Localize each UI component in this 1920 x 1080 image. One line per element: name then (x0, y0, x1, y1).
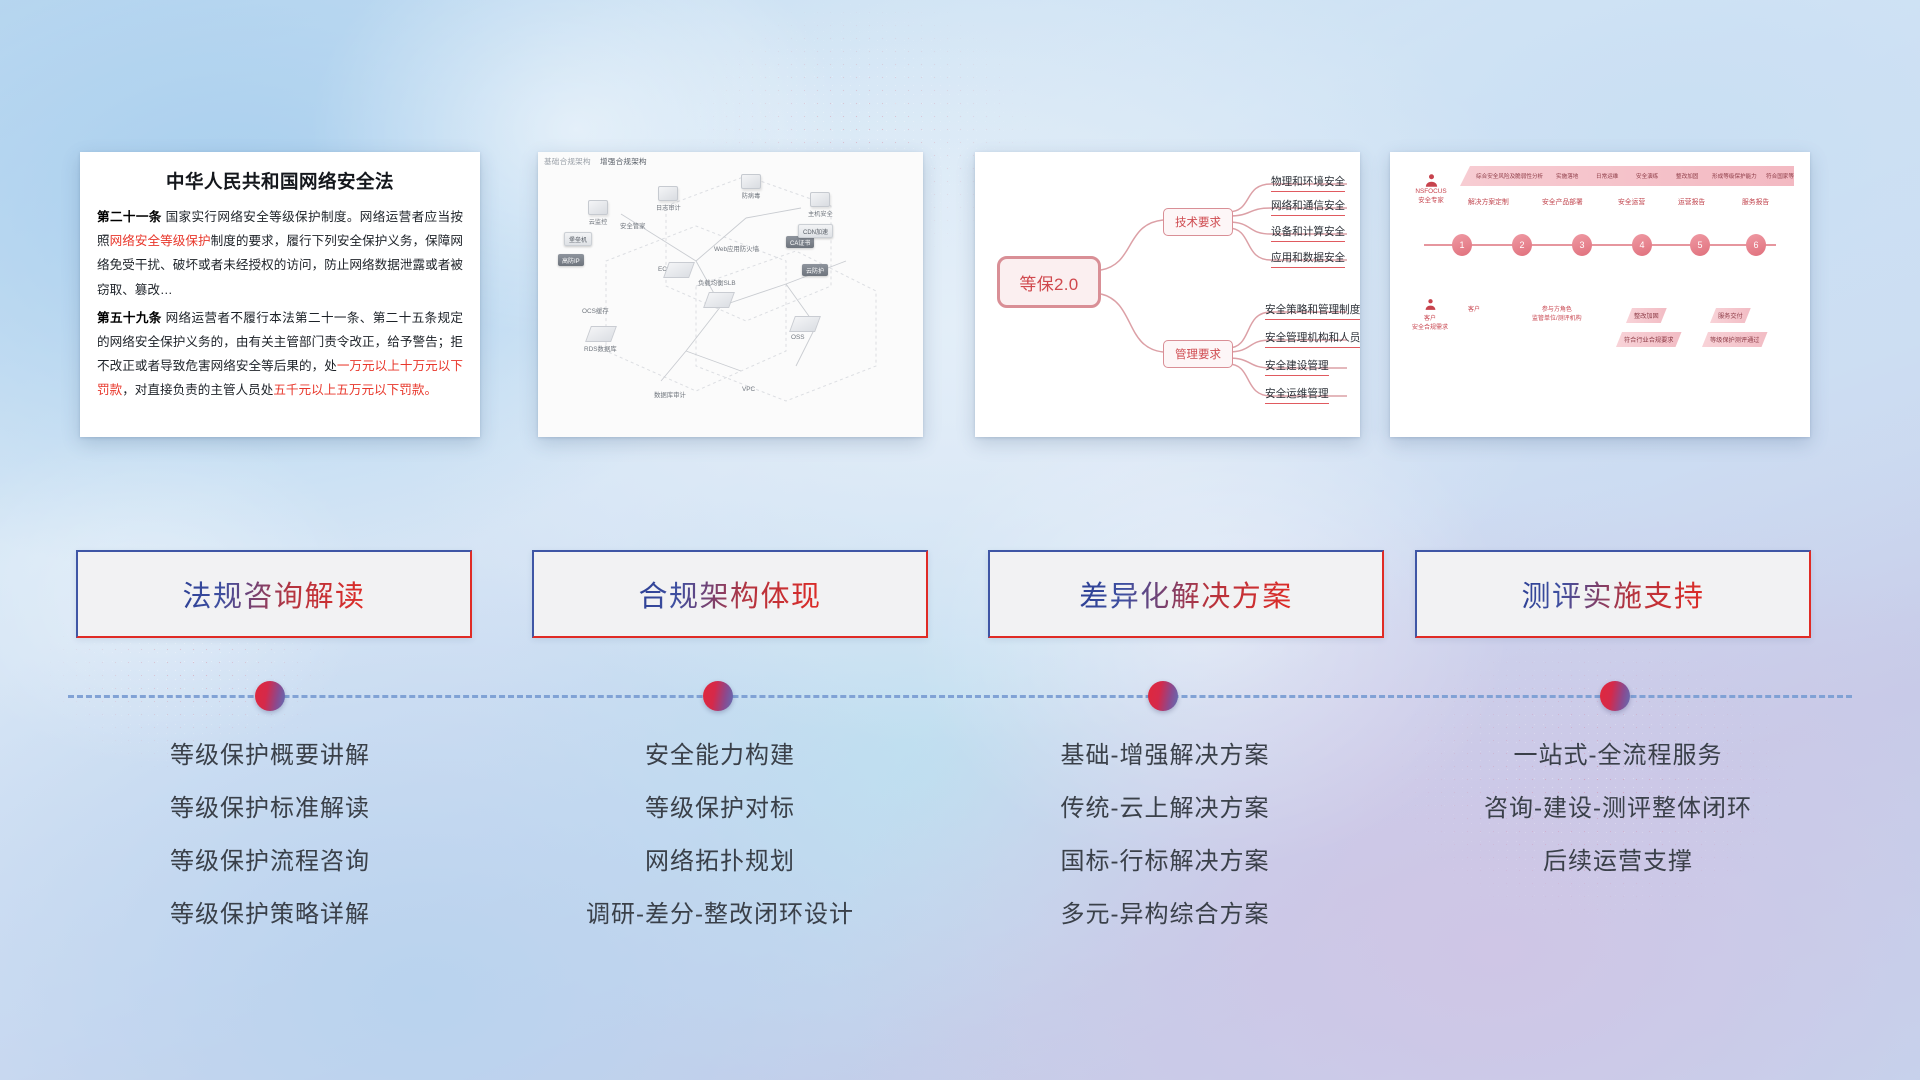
law-paragraph-59: 第五十九条 网络运营者不履行本法第二十一条、第二十五条规定的网络安全保护义务的，… (97, 306, 463, 403)
tab-basic[interactable]: 基础合规架构 (544, 157, 591, 166)
person-title: 客户 (1412, 313, 1448, 322)
mindmap-leaf: 安全策略和管理制度 (1265, 302, 1360, 320)
list-item: 一站式-全流程服务 (1514, 735, 1723, 770)
list-item: 基础-增强解决方案 (1061, 735, 1270, 770)
roadmap-tag: 符合行业合规要求 (1616, 332, 1682, 347)
card-cybersecurity-law[interactable]: 中华人民共和国网络安全法 第二十一条 国家实行网络安全等级保护制度。网络运营者应… (80, 152, 480, 437)
page-root: 中华人民共和国网络安全法 第二十一条 国家实行网络安全等级保护制度。网络运营者应… (0, 0, 1920, 1080)
node-waf[interactable]: 云监控 (588, 200, 608, 226)
cards-row: 中华人民共和国网络安全法 第二十一条 国家实行网络安全等级保护制度。网络运营者应… (0, 152, 1920, 442)
list-item: 等级保护标准解读 (170, 788, 370, 823)
label-sec-mgr: 安全管家 (620, 221, 646, 230)
law-title: 中华人民共和国网络安全法 (97, 168, 463, 194)
banner-item: 实施落地 (1556, 172, 1578, 180)
list-item: 调研-差分-整改闭环设计 (586, 894, 854, 929)
list-item: 等级保护流程咨询 (170, 841, 370, 876)
timeline-dashed-line (68, 695, 1852, 698)
card-dengbao-mindmap[interactable]: 等保2.0 技术要求 管理要求 物理和环境安全 网络和通信安全 设备和计算安全 … (975, 152, 1360, 437)
heading-label: 差异化解决方案 (1079, 573, 1293, 615)
roadmap-sub: 运营报告 (1678, 196, 1705, 206)
list-item: 多元-异构综合方案 (1061, 894, 1270, 929)
heading-label: 法规咨询解读 (182, 573, 365, 615)
mindmap-leaf: 应用和数据安全 (1271, 250, 1345, 268)
roadmap-step[interactable]: 1 (1452, 234, 1472, 256)
mindmap-leaf: 物理和环境安全 (1271, 174, 1345, 192)
label-db-audit: 数据库审计 (654, 390, 686, 399)
heading-label: 测评实施支持 (1521, 573, 1704, 615)
mindmap-branch-technical[interactable]: 技术要求 (1163, 208, 1233, 236)
timeline (0, 660, 1920, 708)
heading-box-compliance-architecture[interactable]: 合规架构体现 (532, 550, 928, 638)
law-body: 中华人民共和国网络安全法 第二十一条 国家实行网络安全等级保护制度。网络运营者应… (80, 152, 480, 416)
roadmap: 综合安全风险及脆弱性分析 实施落地 日常运维 安全演练 整改加固 形成等级保护能… (1390, 152, 1810, 437)
timeline-dot-2[interactable] (703, 681, 733, 711)
banner-item: 安全演练 (1636, 172, 1658, 180)
label-ocs: OCS缓存 (582, 306, 609, 315)
roadmap-step[interactable]: 2 (1512, 234, 1532, 256)
roadmap-step[interactable]: 3 (1572, 234, 1592, 256)
card-compliance-architecture[interactable]: 基础合规架构 增强合规架构 (538, 152, 923, 437)
list-column-regulation-consulting: 等级保护概要讲解 等级保护标准解读 等级保护流程咨询 等级保护策略详解 (70, 735, 470, 929)
roadmap-person: 客户 (1468, 304, 1480, 313)
list-item: 等级保护策略详解 (170, 894, 370, 929)
heading-label: 合规架构体现 (638, 573, 821, 615)
heading-box-differentiated-solution[interactable]: 差异化解决方案 (988, 550, 1384, 638)
law-highlight: 网络安全等级保护 (110, 234, 211, 248)
mindmap-branch-management[interactable]: 管理要求 (1163, 340, 1233, 368)
list-item: 等级保护概要讲解 (170, 735, 370, 770)
list-item: 咨询-建设-测评整体闭环 (1484, 788, 1752, 823)
roadmap-sub: 安全运营 (1618, 196, 1645, 206)
person-title: 客户 (1468, 304, 1480, 313)
label-rds: RDS数据库 (584, 344, 617, 353)
list-item: 等级保护对标 (645, 788, 795, 823)
law-highlight: 五千元以上五万元以下罚款。 (273, 383, 437, 397)
chip-highdefip[interactable]: 高防IP (558, 254, 584, 266)
roadmap-step[interactable]: 4 (1632, 234, 1652, 256)
mindmap-leaf: 安全建设管理 (1265, 358, 1329, 376)
banner-item: 符合国家等级保护标准的安全建设 (1766, 172, 1810, 180)
list-item: 传统-云上解决方案 (1061, 788, 1270, 823)
brand-sub: 安全专家 (1418, 197, 1444, 206)
tab-enhanced[interactable]: 增强合规架构 (600, 157, 647, 166)
label-vpc: VPC (742, 386, 755, 393)
list-column-evaluation-support: 一站式-全流程服务 咨询-建设-测评整体闭环 后续运营支撑 (1418, 735, 1818, 876)
list-column-differentiated-solution: 基础-增强解决方案 传统-云上解决方案 国标-行标解决方案 多元-异构综合方案 (965, 735, 1365, 929)
mindmap: 等保2.0 技术要求 管理要求 物理和环境安全 网络和通信安全 设备和计算安全 … (975, 152, 1360, 437)
mindmap-leaf: 安全管理机构和人员 (1265, 330, 1360, 348)
nsfocus-logo: NSFOCUS 安全专家 (1406, 166, 1456, 212)
roadmap-sub: 安全产品部署 (1542, 196, 1583, 206)
label-waf: Web应用防火墙 (714, 244, 759, 253)
banner-item: 整改加固 (1676, 172, 1698, 180)
mindmap-root: 等保2.0 (997, 256, 1101, 308)
person-icon (1424, 173, 1439, 188)
roadmap-sub: 服务报告 (1742, 196, 1769, 206)
roadmap-tag: 服务交付 (1710, 308, 1751, 323)
roadmap-step[interactable]: 5 (1690, 234, 1710, 256)
chip-cdn[interactable]: CDN加速 (798, 224, 833, 238)
law-article-label: 第二十一条 (97, 210, 162, 224)
roadmap-tag: 整改加固 (1626, 308, 1667, 323)
timeline-dot-3[interactable] (1148, 681, 1178, 711)
roadmap-tag: 等级保护测评通过 (1702, 332, 1768, 347)
brand-name: NSFOCUS (1415, 188, 1446, 197)
list-item: 网络拓扑规划 (645, 841, 795, 876)
law-article-label: 第五十九条 (97, 311, 162, 325)
node-monitor[interactable]: 防病毒 (741, 174, 761, 200)
heading-box-regulation-consulting[interactable]: 法规咨询解读 (76, 550, 472, 638)
list-column-compliance-architecture: 安全能力构建 等级保护对标 网络拓扑规划 调研-差分-整改闭环设计 (520, 735, 920, 929)
roadmap-rail (1424, 244, 1776, 246)
roadmap-banner: 综合安全风险及脆弱性分析 实施落地 日常运维 安全演练 整改加固 形成等级保护能… (1460, 166, 1794, 186)
timeline-dot-4[interactable] (1600, 681, 1630, 711)
law-text: ，对直接负责的主管人员处 (122, 383, 273, 397)
banner-item: 日常运维 (1596, 172, 1618, 180)
headings-row: 法规咨询解读 合规架构体现 差异化解决方案 测评实施支持 (0, 550, 1920, 638)
customer-icon (1424, 298, 1437, 311)
roadmap-header: 综合安全风险及脆弱性分析 实施落地 日常运维 安全演练 整改加固 形成等级保护能… (1406, 166, 1794, 212)
roadmap-sub: 解决方案定制 (1468, 196, 1509, 206)
heading-box-evaluation-support[interactable]: 测评实施支持 (1415, 550, 1811, 638)
person-sub: 安全合规需求 (1412, 322, 1448, 331)
chip-cloudguard[interactable]: 云防护 (802, 264, 828, 276)
card-nsfocus-roadmap[interactable]: 综合安全风险及脆弱性分析 实施落地 日常运维 安全演练 整改加固 形成等级保护能… (1390, 152, 1810, 437)
node-log-audit[interactable]: 日志审计 (656, 186, 681, 212)
list-item: 安全能力构建 (645, 735, 795, 770)
list-item: 后续运营支撑 (1543, 841, 1693, 876)
mindmap-leaf: 网络和通信安全 (1271, 198, 1345, 216)
roadmap-person: 客户 安全合规需求 (1412, 298, 1448, 331)
timeline-dot-1[interactable] (255, 681, 285, 711)
lists-row: 等级保护概要讲解 等级保护标准解读 等级保护流程咨询 等级保护策略详解 安全能力… (0, 735, 1920, 955)
mindmap-leaf: 设备和计算安全 (1271, 224, 1345, 242)
list-item: 国标-行标解决方案 (1061, 841, 1270, 876)
chip-bastion[interactable]: 堡垒机 (564, 232, 592, 246)
law-paragraph-21: 第二十一条 国家实行网络安全等级保护制度。网络运营者应当按照网络安全等级保护制度… (97, 205, 463, 302)
person-sub: 监管单位/测评机构 (1532, 313, 1582, 322)
architecture-canvas: 云监控 日志审计 防病毒 主机安全 堡垒机 高防IP CA证书 云防护 CDN加… (546, 166, 915, 429)
label-oss: OSS (791, 334, 805, 341)
person-title: 参与方角色 (1532, 304, 1582, 313)
mindmap-leaf: 安全运维管理 (1265, 386, 1329, 404)
architecture-diagram: 基础合规架构 增强合规架构 (538, 152, 923, 437)
roadmap-person: 参与方角色 监管单位/测评机构 (1532, 304, 1582, 322)
banner-item: 综合安全风险及脆弱性分析 (1476, 172, 1543, 180)
node-antivirus[interactable]: 主机安全 (808, 192, 833, 218)
banner-item: 形成等级保护能力 (1712, 172, 1757, 180)
label-slb: 负载均衡SLB (698, 278, 736, 287)
roadmap-step[interactable]: 6 (1746, 234, 1766, 256)
